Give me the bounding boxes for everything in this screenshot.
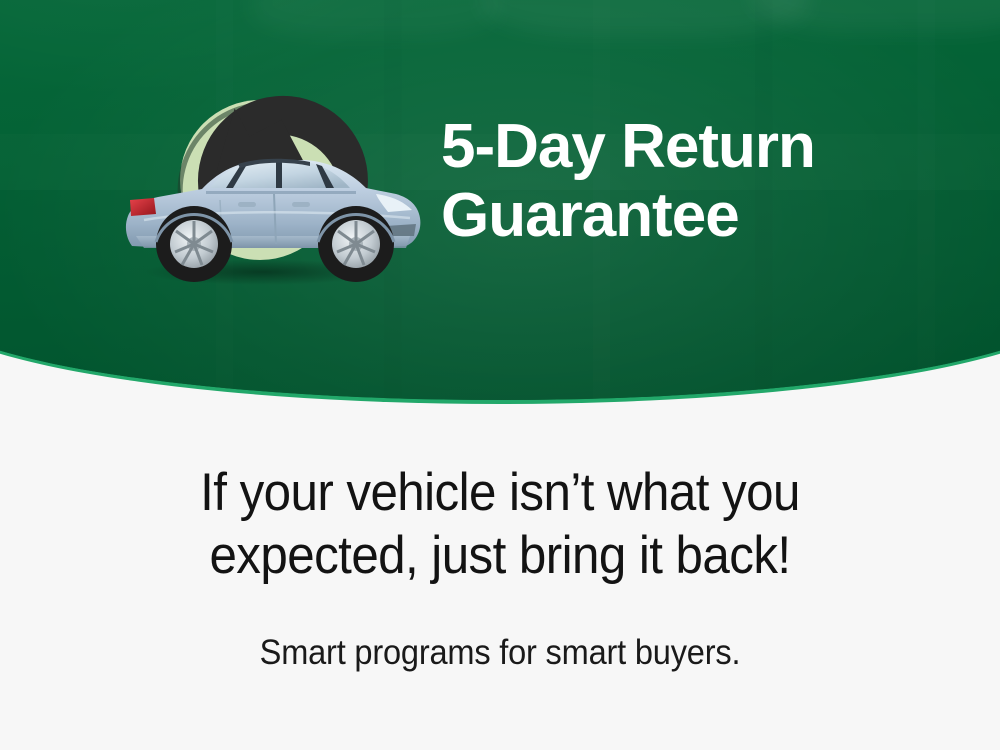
subheadline: If your vehicle isn’t what you expected,… bbox=[35, 462, 965, 587]
front-wheel bbox=[318, 206, 394, 282]
tagline: Smart programs for smart buyers. bbox=[35, 633, 965, 673]
promo-banner: DriveTime bbox=[0, 0, 1000, 750]
subheadline-line-1: If your vehicle isn’t what you bbox=[35, 462, 965, 525]
return-guarantee-graphic bbox=[110, 60, 440, 305]
headline-line-2: Guarantee bbox=[441, 181, 961, 250]
promo-copy-block: If your vehicle isn’t what you expected,… bbox=[0, 462, 1000, 673]
page-title: 5-Day Return Guarantee bbox=[441, 112, 961, 251]
taillight-icon bbox=[130, 198, 156, 216]
rear-wheel bbox=[156, 206, 232, 282]
headline-line-1: 5-Day Return bbox=[441, 112, 961, 181]
subheadline-line-2: expected, just bring it back! bbox=[35, 525, 965, 588]
